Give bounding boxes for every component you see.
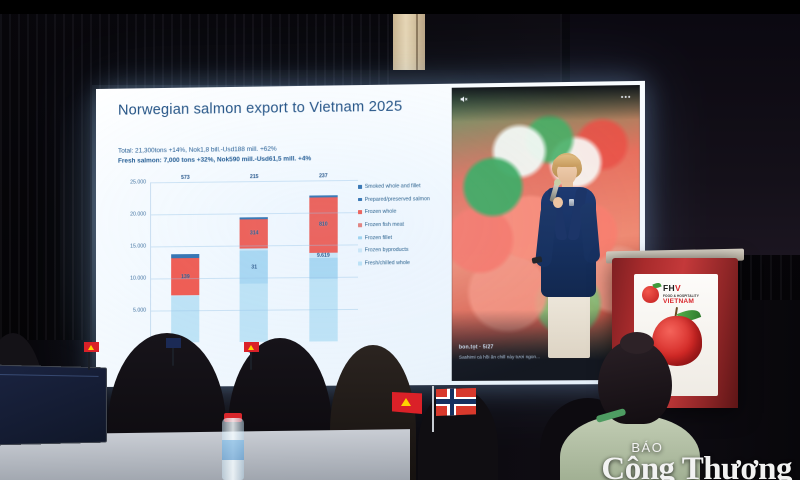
y-axis-tick: 5.000 [133, 308, 146, 314]
video-caption-title: bon.tọt · 5/27 [459, 344, 494, 350]
fhv-wordmark: FHV FOOD & HOSPITALITY VIETNAM [663, 284, 699, 305]
bar-top-label: 215 [234, 173, 274, 180]
more-options-icon[interactable]: ••• [621, 94, 632, 101]
audience-hair-bun [620, 332, 654, 354]
legend-label: Frozen byproducts [365, 247, 409, 254]
legend-label: Smoked whole and fillet [365, 183, 421, 190]
bar-segment [240, 284, 268, 342]
bar-segment-label: 314 [240, 230, 268, 236]
bar-segment-label: 810 [309, 222, 337, 228]
legend-item: Frozen fillet [358, 234, 444, 241]
legend-item: Fresh/chilled whole [358, 260, 444, 267]
presenter-hand [553, 197, 563, 208]
bar-segment: 139 [171, 258, 199, 296]
chart-bar: 215314312024 [240, 181, 268, 342]
legend-swatch [358, 262, 362, 266]
chart-bar: 2378109.619 [309, 180, 337, 341]
vietnam-star-icon [401, 398, 411, 406]
vietnam-mini-flag [244, 342, 259, 352]
legend-label: Fresh/chilled whole [365, 260, 410, 267]
y-axis-tick: 20.000 [130, 211, 146, 217]
bar-top-label: 237 [303, 172, 344, 179]
chart-y-axis: 25.00020.00015.00010.0005.000 [112, 182, 148, 343]
presenter-hair-front [553, 155, 581, 167]
vietnam-mini-flag [84, 342, 99, 352]
norway-flag [436, 388, 476, 416]
laptop [0, 364, 107, 445]
table-flag-set [392, 378, 502, 440]
slide-subtitle: Total: 21,300tons +14%, Nok1,8 bill.-Usd… [118, 144, 311, 166]
bar-segment-label: 31 [240, 264, 268, 270]
legend-label: Prepared/preserved salmon [365, 196, 430, 203]
fhv-brand-line1: FHV [663, 284, 699, 293]
chart-plot-area: 5731392153143120242378109.619 [150, 180, 358, 343]
bar-top-label: 573 [165, 174, 205, 181]
flag-horizontal-blue [436, 399, 476, 404]
legend-swatch [358, 198, 362, 202]
presenter-person [524, 153, 612, 358]
fhv-brand-line3: VIETNAM [663, 299, 699, 306]
fhv-v-text: V [675, 283, 681, 293]
speaker-mute-icon[interactable] [459, 95, 468, 104]
legend-item: Frozen byproducts [358, 247, 444, 254]
fhv-fh-text: FH [663, 283, 675, 293]
flag-pole [432, 386, 434, 432]
legend-item: Frozen fish meat [358, 221, 444, 228]
legend-swatch [358, 185, 362, 189]
legend-item: Prepared/preserved salmon [358, 196, 444, 204]
fhv-brand-line2: FOOD & HOSPITALITY [663, 294, 699, 298]
legend-label: Frozen whole [365, 209, 397, 216]
legend-item: Smoked whole and fillet [358, 183, 444, 191]
legend-swatch [358, 249, 362, 253]
presenter-lapel-pin [569, 199, 574, 206]
fhv-logo: FHV FOOD & HOSPITALITY VIETNAM [642, 282, 710, 308]
chart-bars: 5731392153143120242378109.619 [151, 180, 358, 343]
slide-title: Norwegian salmon export to Vietnam 2025 [118, 99, 402, 119]
water-bottle-label [222, 440, 244, 460]
legend-label: Frozen fish meat [365, 222, 404, 229]
legend-swatch [358, 236, 362, 240]
video-top-gradient [452, 85, 640, 122]
legend-label: Frozen fillet [365, 235, 392, 242]
ceiling-strip [0, 0, 800, 14]
apple-icon-small [642, 286, 659, 303]
vietnam-star-icon [248, 345, 254, 350]
navy-mini-flag [166, 338, 181, 348]
conference-room-photo: Norwegian salmon export to Vietnam 2025 … [0, 0, 800, 480]
y-axis-tick: 15.000 [130, 243, 146, 249]
bar-segment: 31 [240, 250, 268, 284]
legend-swatch [358, 223, 362, 227]
vietnam-star-icon [88, 345, 94, 350]
microphone-head [554, 179, 561, 186]
laptop-screen-content [0, 374, 99, 436]
legend-item: Frozen whole [358, 209, 444, 216]
y-axis-tick: 10.000 [130, 276, 146, 282]
slide-subtitle-line2: Fresh salmon: 7,000 tons +32%, Nok590 mi… [118, 154, 311, 166]
chart-legend: Smoked whole and filletPrepared/preserve… [358, 183, 444, 274]
chart-bar: 573139 [171, 182, 199, 343]
bar-segment [309, 279, 337, 341]
y-axis-tick: 25.000 [130, 179, 146, 185]
legend-swatch [358, 210, 362, 214]
bar-segment: 314 [240, 219, 268, 248]
